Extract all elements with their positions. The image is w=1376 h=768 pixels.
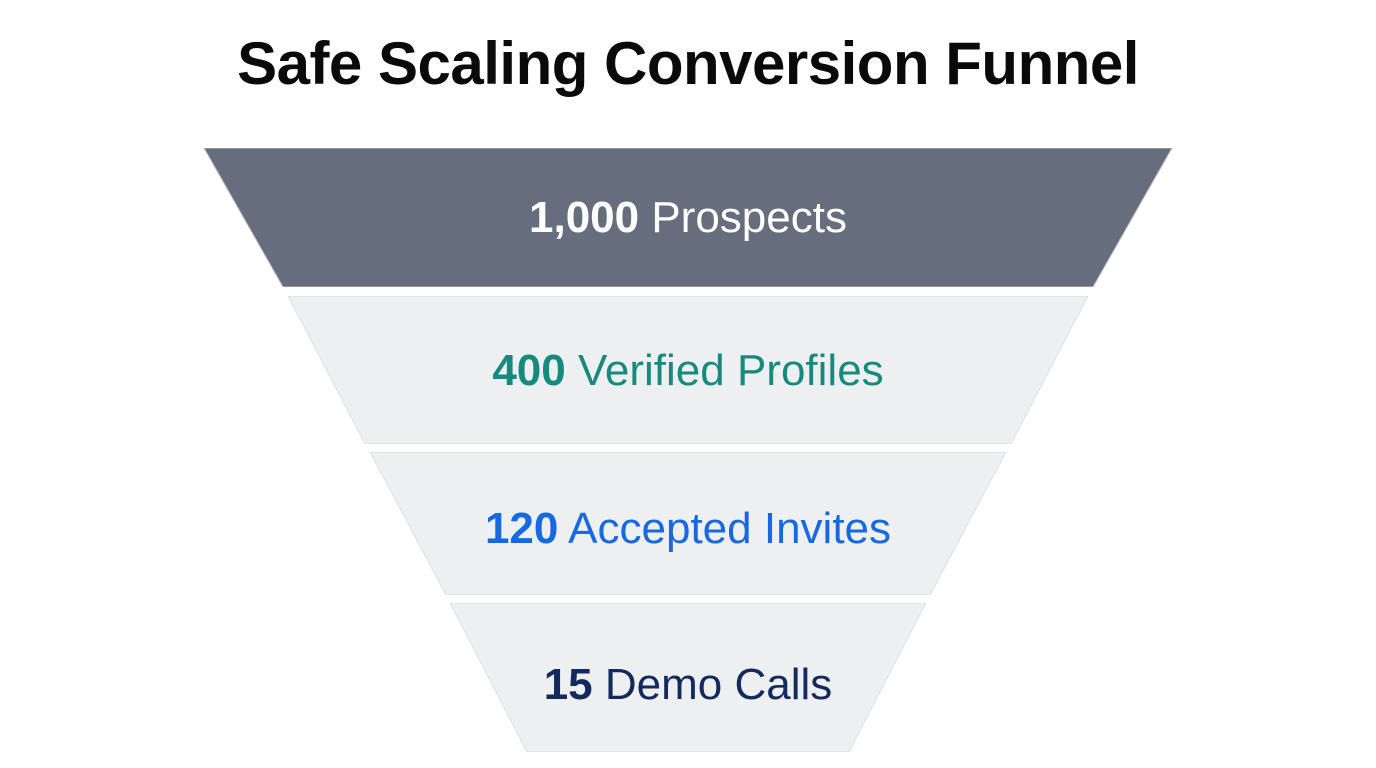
- funnel-stage-3-label: 120 Accepted Invites: [0, 507, 1376, 551]
- funnel-stage-1-name: Prospects: [639, 193, 847, 242]
- funnel-stage-4-value: 15: [544, 660, 593, 709]
- funnel-stage-3-name: Accepted Invites: [558, 504, 891, 553]
- funnel-stage-4[interactable]: 15 Demo Calls: [0, 603, 1376, 752]
- funnel-stage-2-name: Verified Profiles: [566, 346, 884, 395]
- funnel-stage-2-label: 400 Verified Profiles: [0, 349, 1376, 393]
- funnel-diagram: 1,000 Prospects 400 Verified Profiles 12…: [0, 0, 1376, 768]
- funnel-stage-3-value: 120: [485, 504, 558, 553]
- funnel-stage-4-name: Demo Calls: [593, 660, 833, 709]
- funnel-stage-1-label: 1,000 Prospects: [0, 196, 1376, 240]
- funnel-stage-1-value: 1,000: [529, 193, 639, 242]
- funnel-stage-4-label: 15 Demo Calls: [0, 663, 1376, 707]
- funnel-stage-3[interactable]: 120 Accepted Invites: [0, 452, 1376, 595]
- funnel-chart-canvas: Safe Scaling Conversion Funnel 1,000 Pro…: [0, 0, 1376, 768]
- funnel-stage-2-value: 400: [492, 346, 565, 395]
- funnel-stage-1[interactable]: 1,000 Prospects: [0, 148, 1376, 287]
- funnel-stage-2[interactable]: 400 Verified Profiles: [0, 296, 1376, 444]
